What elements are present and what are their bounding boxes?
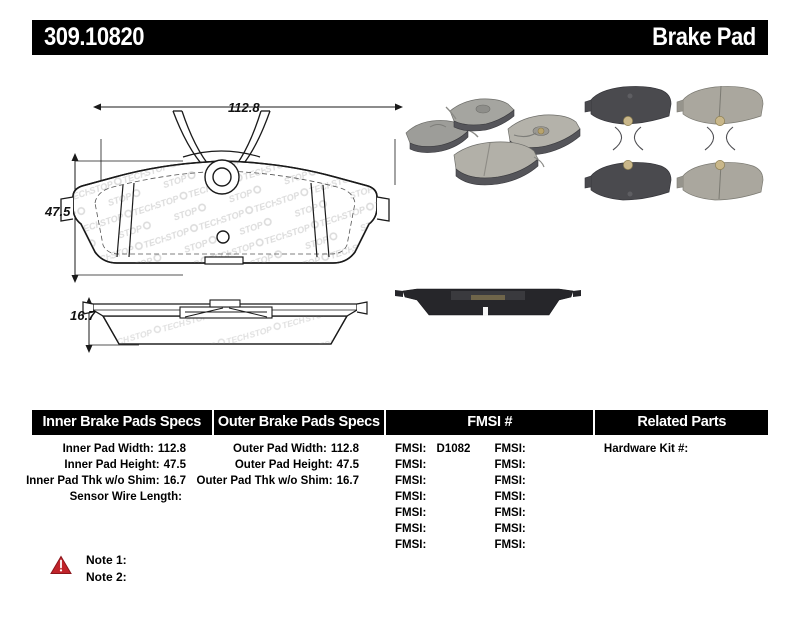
- fmsi-row: FMSI:: [395, 521, 494, 537]
- spec-row: Inner Pad Thk w/o Shim: 16.7: [32, 473, 212, 489]
- part-number: 309.10820: [44, 23, 144, 52]
- fmsi-label: FMSI:: [395, 523, 426, 535]
- spec-row: Inner Pad Width: 112.8: [32, 441, 212, 457]
- pad-edge-view-drawing: STOP TECH: [55, 288, 395, 358]
- fmsi-row: FMSI:: [494, 505, 593, 521]
- fmsi-label: FMSI:: [494, 443, 525, 455]
- fmsi-label: FMSI:: [395, 443, 426, 455]
- related-part-row: Hardware Kit #:: [604, 441, 768, 457]
- fmsi-label: FMSI:: [494, 491, 525, 503]
- fmsi-row: FMSI:: [494, 457, 593, 473]
- fmsi-column-left: FMSI: D1082 FMSI: FMSI: FMSI:: [395, 441, 494, 553]
- fmsi-label: FMSI:: [494, 523, 525, 535]
- notes-text: Note 1: Note 2:: [86, 552, 127, 586]
- column-header-related-parts: Related Parts: [595, 410, 768, 435]
- fmsi-row: FMSI:: [395, 473, 494, 489]
- four-pads-angled-photo: [398, 85, 588, 195]
- table-header-row: Inner Brake Pads Specs Outer Brake Pads …: [32, 410, 768, 435]
- inner-specs-body: Inner Pad Width: 112.8 Inner Pad Height:…: [32, 441, 212, 553]
- spec-label: Sensor Wire Length:: [70, 489, 182, 505]
- spec-table: Inner Brake Pads Specs Outer Brake Pads …: [32, 410, 768, 553]
- spec-row: Inner Pad Height: 47.5: [32, 457, 212, 473]
- fmsi-label: FMSI:: [395, 539, 426, 551]
- column-header-inner-specs: Inner Brake Pads Specs: [32, 410, 212, 435]
- spec-label: Inner Pad Width:: [63, 441, 154, 457]
- spec-label: Inner Pad Thk w/o Shim:: [26, 473, 160, 489]
- spec-row: Outer Pad Height: 47.5: [214, 457, 385, 473]
- fmsi-row: FMSI:: [395, 537, 494, 553]
- fmsi-label: FMSI:: [494, 507, 525, 519]
- dimension-label-width: 112.8: [228, 100, 260, 115]
- spec-label: Outer Pad Thk w/o Shim:: [197, 473, 333, 489]
- fmsi-body: FMSI: D1082 FMSI: FMSI: FMSI:: [387, 441, 594, 553]
- outer-specs-body: Outer Pad Width: 112.8 Outer Pad Height:…: [214, 441, 385, 553]
- fmsi-row: FMSI: D1082: [395, 441, 494, 457]
- fmsi-row: FMSI:: [494, 473, 593, 489]
- related-parts-body: Hardware Kit #:: [596, 441, 768, 553]
- spec-value: 16.7: [337, 473, 359, 489]
- dimension-label-height: 47.5: [45, 204, 70, 219]
- fmsi-row: FMSI:: [494, 537, 593, 553]
- fmsi-label: FMSI:: [494, 459, 525, 471]
- fmsi-value: D1082: [437, 443, 471, 455]
- notes-section: Note 1: Note 2:: [50, 552, 127, 586]
- fmsi-row: FMSI:: [395, 457, 494, 473]
- note-line-2: Note 2:: [86, 569, 127, 586]
- spec-row: Outer Pad Width: 112.8: [214, 441, 385, 457]
- fmsi-row: FMSI:: [395, 505, 494, 521]
- four-pads-grid-photo: [583, 80, 773, 210]
- spec-label: Outer Pad Width:: [233, 441, 327, 457]
- spec-row: Outer Pad Thk w/o Shim: 16.7: [214, 473, 385, 489]
- drawing-area: STOP TECH STOP: [0, 60, 800, 390]
- fmsi-label: FMSI:: [494, 539, 525, 551]
- fmsi-label: FMSI:: [395, 475, 426, 487]
- brake-pad-spec-sheet: 309.10820 Brake Pad STOP TECH STOP: [0, 0, 800, 619]
- fmsi-label: FMSI:: [494, 475, 525, 487]
- fmsi-label: FMSI:: [395, 459, 426, 471]
- fmsi-row: FMSI:: [395, 489, 494, 505]
- warning-triangle-icon: [50, 555, 72, 575]
- fmsi-label: FMSI:: [395, 491, 426, 503]
- product-type: Brake Pad: [652, 23, 756, 52]
- spec-value: 112.8: [331, 441, 359, 457]
- column-header-fmsi: FMSI #: [386, 410, 593, 435]
- spec-value: 112.8: [158, 441, 186, 457]
- fmsi-row: FMSI:: [494, 441, 593, 457]
- fmsi-label: FMSI:: [395, 507, 426, 519]
- fmsi-row: FMSI:: [494, 489, 593, 505]
- note-line-1: Note 1:: [86, 552, 127, 569]
- related-part-label: Hardware Kit #:: [604, 443, 688, 455]
- spec-value: 16.7: [164, 473, 186, 489]
- table-body-row: Inner Pad Width: 112.8 Inner Pad Height:…: [32, 441, 768, 553]
- dimension-label-thickness: 16.7: [70, 308, 95, 323]
- spec-label: Outer Pad Height:: [235, 457, 333, 473]
- pad-edge-view-photo: [393, 267, 583, 333]
- spec-row: Sensor Wire Length:: [32, 489, 212, 505]
- column-header-outer-specs: Outer Brake Pads Specs: [214, 410, 385, 435]
- spec-value: 47.5: [337, 457, 359, 473]
- spec-value: 47.5: [164, 457, 186, 473]
- fmsi-column-right: FMSI: FMSI: FMSI: FMSI:: [494, 441, 593, 553]
- spec-label: Inner Pad Height:: [64, 457, 159, 473]
- fmsi-row: FMSI:: [494, 521, 593, 537]
- header-bar: 309.10820 Brake Pad: [32, 20, 768, 55]
